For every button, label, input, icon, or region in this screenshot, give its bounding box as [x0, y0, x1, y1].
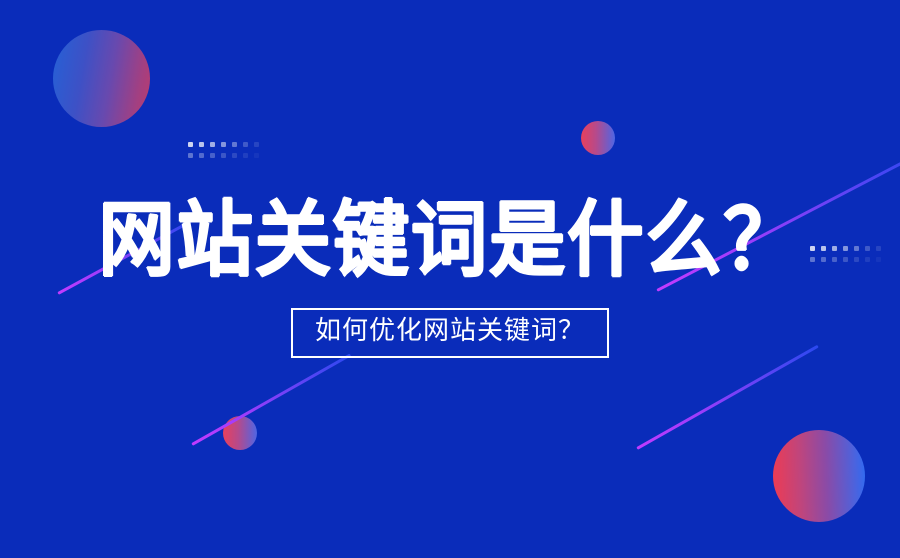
banner-content: 网站关键词是什么？ 如何优化网站关键词？ [0, 0, 900, 558]
banner-headline: 网站关键词是什么？ [98, 200, 801, 282]
banner-subtitle: 如何优化网站关键词？ [315, 318, 585, 345]
banner-subtitle-box: 如何优化网站关键词？ [291, 308, 609, 357]
promo-banner: 网站关键词是什么？ 如何优化网站关键词？ [0, 0, 900, 558]
